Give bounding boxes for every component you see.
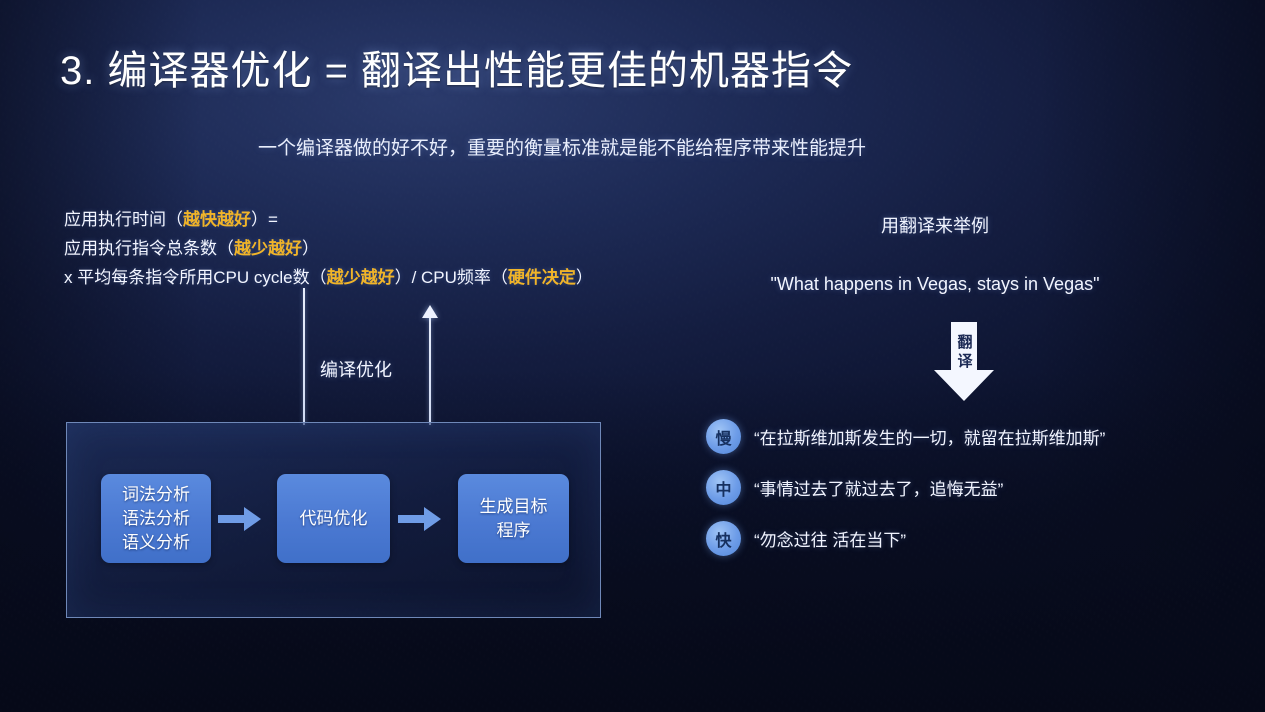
formula-line-2-pre: 应用执行指令总条数（: [64, 239, 234, 258]
translation-row-fast: 快 “勿念过往 活在当下”: [706, 521, 906, 556]
translation-badge-fast: 快: [706, 521, 741, 556]
formula-line-1-highlight: 越快越好: [183, 210, 251, 229]
translation-badge-slow: 慢: [706, 419, 741, 454]
formula-line-2-post: ）: [302, 239, 319, 258]
translate-arrow-label: 翻 译: [952, 333, 978, 371]
formula-line-3-post: ）: [576, 268, 593, 287]
connector-arrow-up-icon: [422, 305, 438, 318]
formula-line-1: 应用执行时间（越快越好）=: [64, 205, 684, 234]
translate-arrow-label-char-2: 译: [952, 352, 978, 371]
pipeline-box-analysis: 词法分析 语法分析 语义分析: [101, 474, 211, 563]
formula-line-3-highlight-2: 硬件决定: [508, 268, 576, 287]
formula-line-1-pre: 应用执行时间（: [64, 210, 183, 229]
formula-line-3-highlight-1: 越少越好: [327, 268, 395, 287]
page-subtitle: 一个编译器做的好不好，重要的衡量标准就是能不能给程序带来性能提升: [258, 133, 866, 160]
pipeline-box-analysis-line-2: 语法分析: [122, 507, 190, 531]
formula-line-2-highlight: 越少越好: [234, 239, 302, 258]
formula-line-1-post: ）=: [251, 210, 278, 229]
pipeline-box-codegen-line-2: 程序: [480, 519, 548, 543]
translation-quote-medium: “事情过去了就过去了，追悔无益”: [754, 475, 1003, 500]
performance-formula: 应用执行时间（越快越好）= 应用执行指令总条数（越少越好） x 平均每条指令所用…: [64, 205, 684, 292]
translation-quote-slow: “在拉斯维加斯发生的一切，就留在拉斯维加斯”: [754, 424, 1105, 449]
pipeline-arrow-right-icon-2: [398, 504, 442, 534]
pipeline-box-optimization-line-1: 代码优化: [300, 507, 368, 531]
example-source-quote: "What happens in Vegas, stays in Vegas": [700, 274, 1170, 295]
formula-line-3-mid: ）/ CPU频率（: [395, 268, 508, 287]
translation-row-slow: 慢 “在拉斯维加斯发生的一切，就留在拉斯维加斯”: [706, 419, 1105, 454]
pipeline-box-analysis-line-3: 语义分析: [122, 531, 190, 555]
translation-quote-fast: “勿念过往 活在当下”: [754, 526, 906, 551]
pipeline-box-codegen: 生成目标 程序: [458, 474, 569, 563]
translation-row-medium: 中 “事情过去了就过去了，追悔无益”: [706, 470, 1003, 505]
formula-line-3-pre: x 平均每条指令所用CPU cycle数（: [64, 268, 327, 287]
connector-line-cycles: [303, 288, 305, 425]
translate-arrow-label-char-1: 翻: [952, 333, 978, 352]
formula-line-2: 应用执行指令总条数（越少越好）: [64, 234, 684, 263]
pipeline-box-analysis-line-1: 词法分析: [122, 483, 190, 507]
formula-line-3: x 平均每条指令所用CPU cycle数（越少越好）/ CPU频率（硬件决定）: [64, 263, 684, 292]
page-title: 3. 编译器优化 = 翻译出性能更佳的机器指令: [60, 38, 853, 96]
slide-canvas: 3. 编译器优化 = 翻译出性能更佳的机器指令 一个编译器做的好不好，重要的衡量…: [0, 0, 1265, 712]
pipeline-box-optimization: 代码优化: [277, 474, 390, 563]
pipeline-box-codegen-line-1: 生成目标: [480, 495, 548, 519]
connector-line-instructions: [429, 313, 431, 425]
example-title: 用翻译来举例: [700, 212, 1170, 238]
translation-badge-medium: 中: [706, 470, 741, 505]
pipeline-arrow-right-icon-1: [218, 504, 262, 534]
optimization-label: 编译优化: [320, 356, 392, 382]
